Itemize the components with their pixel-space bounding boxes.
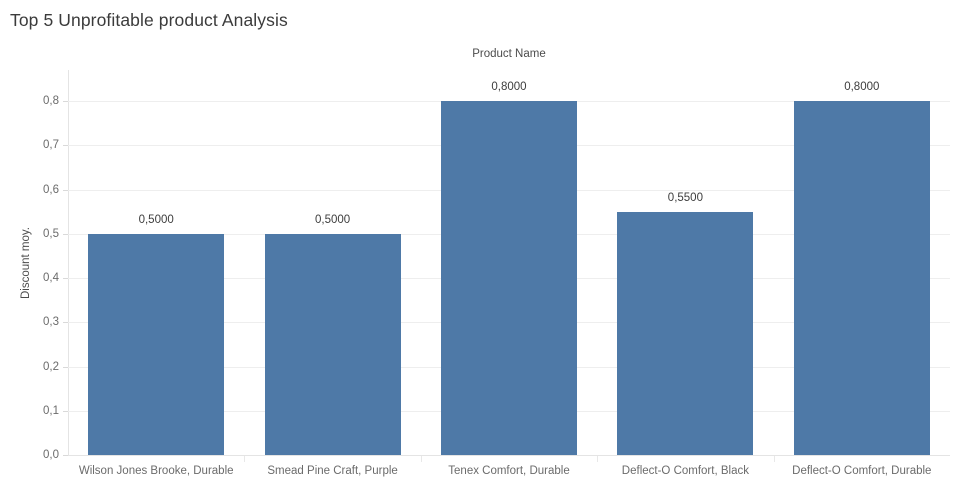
y-axis-tick: [63, 322, 68, 323]
bar[interactable]: [441, 101, 577, 455]
y-axis-tick: [63, 101, 68, 102]
y-axis-tick-label: 0,1: [43, 405, 59, 417]
y-axis-tick-label: 0,8: [43, 95, 59, 107]
x-axis-tick-labels: Wilson Jones Brooke, DurableSmead Pine C…: [68, 456, 950, 490]
x-axis-tick-separator: [421, 456, 422, 462]
x-axis-tick-label[interactable]: Deflect-O Comfort, Black: [622, 465, 749, 477]
y-axis-tick: [63, 367, 68, 368]
y-axis-title-label: Discount moy.: [20, 226, 32, 298]
x-axis-field-title: Product Name: [68, 48, 950, 60]
bar-value-label: 0,8000: [491, 81, 526, 93]
y-axis-tick: [63, 234, 68, 235]
y-axis-line: [68, 70, 69, 455]
bar[interactable]: [265, 234, 401, 455]
y-axis-tick: [63, 411, 68, 412]
bar-value-label: 0,5500: [668, 192, 703, 204]
bar-value-label: 0,5000: [139, 214, 174, 226]
y-axis-title: Discount moy.: [17, 70, 35, 455]
x-axis-tick-separator: [774, 456, 775, 462]
bar[interactable]: [794, 101, 930, 455]
x-axis-tick-label[interactable]: Deflect-O Comfort, Durable: [792, 465, 931, 477]
y-axis-tick-label: 0,0: [43, 449, 59, 461]
plot-area: 0,00,10,20,30,40,50,60,70,8 0,50000,5000…: [68, 70, 950, 455]
x-axis-tick-label[interactable]: Tenex Comfort, Durable: [448, 465, 569, 477]
y-axis-tick-label: 0,4: [43, 272, 59, 284]
y-axis-tick: [63, 190, 68, 191]
bar[interactable]: [88, 234, 224, 455]
x-axis-tick-label[interactable]: Smead Pine Craft, Purple: [267, 465, 397, 477]
page-title: Top 5 Unprofitable product Analysis: [10, 10, 288, 31]
bar-value-label: 0,8000: [844, 81, 879, 93]
y-axis-tick-label: 0,2: [43, 361, 59, 373]
y-axis-tick-label: 0,3: [43, 316, 59, 328]
x-axis-tick-label[interactable]: Wilson Jones Brooke, Durable: [79, 465, 234, 477]
x-axis-tick-separator: [597, 456, 598, 462]
y-axis-tick: [63, 278, 68, 279]
bar-value-label: 0,5000: [315, 214, 350, 226]
y-axis-tick-label: 0,6: [43, 184, 59, 196]
x-axis-tick-separator: [244, 456, 245, 462]
y-axis-tick-label: 0,5: [43, 228, 59, 240]
y-axis-tick: [63, 145, 68, 146]
y-axis-tick-label: 0,7: [43, 139, 59, 151]
bar[interactable]: [617, 212, 753, 455]
